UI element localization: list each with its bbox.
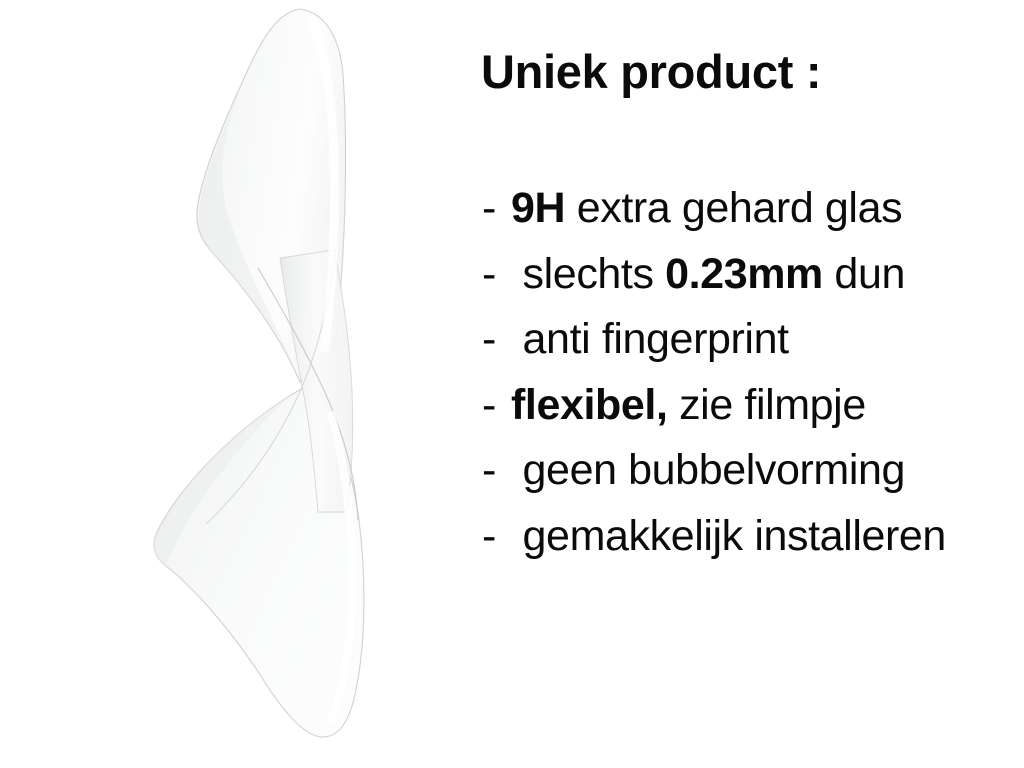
feature-accent: 9H — [511, 184, 565, 232]
product-promo-slide: Uniek product : -9H extra gehard glas - … — [0, 0, 1024, 768]
feature-lead: slechts — [511, 250, 665, 298]
feature-lead: anti fingerprint — [511, 315, 789, 363]
bullet-dash-icon: - — [470, 504, 511, 570]
feature-text: dun — [823, 250, 905, 298]
page-title: Uniek product : — [481, 48, 821, 95]
bullet-dash-icon: - — [470, 307, 511, 373]
bullet-dash-icon: - — [470, 176, 511, 242]
list-item: - anti fingerprint — [470, 307, 1024, 373]
list-item: - gemakkelijk installeren — [470, 504, 1024, 570]
feature-accent: flexibel, — [511, 381, 668, 429]
list-item: - slechts 0.23mm dun — [470, 242, 1024, 308]
bullet-dash-icon: - — [470, 373, 511, 439]
feature-lead: gemakkelijk installeren — [511, 512, 946, 560]
feature-text: extra gehard glas — [565, 184, 902, 232]
feature-text-panel: Uniek product : -9H extra gehard glas - … — [470, 0, 1024, 768]
list-item: - geen bubbelvorming — [470, 438, 1024, 504]
bullet-dash-icon: - — [470, 242, 511, 308]
list-item: -flexibel, zie filmpje — [470, 373, 1024, 439]
feature-list: -9H extra gehard glas - slechts 0.23mm d… — [470, 176, 1024, 569]
list-item: -9H extra gehard glas — [470, 176, 1024, 242]
bullet-dash-icon: - — [470, 438, 511, 504]
feature-lead: geen bubbelvorming — [511, 446, 905, 494]
feature-text: zie filmpje — [668, 381, 866, 429]
feature-accent: 0.23mm — [665, 250, 823, 298]
glass-product-illustration — [0, 0, 470, 768]
